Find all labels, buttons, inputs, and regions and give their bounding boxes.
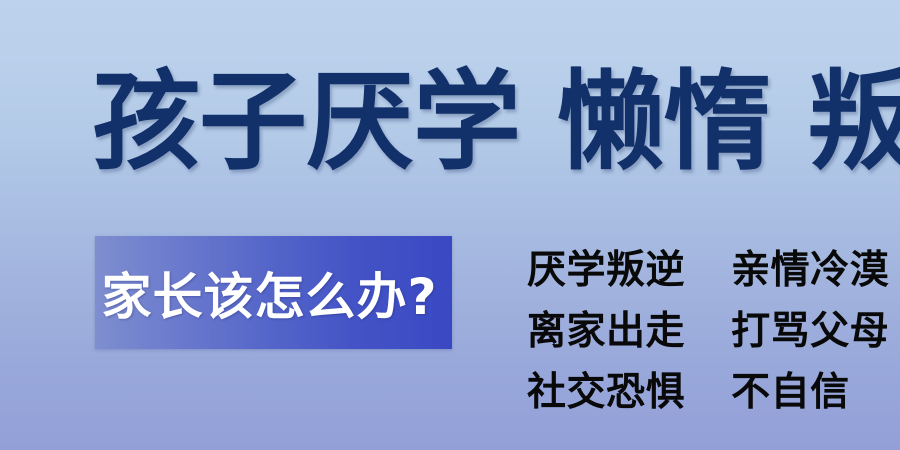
symptom-item-left: 厌学叛逆 (527, 248, 685, 293)
symptom-item-left: 离家出走 (527, 309, 685, 354)
page-title: 孩子厌学 懒惰 叛逆 (92, 58, 832, 188)
symptom-item-right: 不自信 (731, 370, 850, 415)
symptom-item-right: 亲情冷漠 (731, 248, 889, 293)
symptom-list-row: 社交恐惧 不自信 (527, 362, 867, 423)
call-to-action-label: 家长该怎么办? (101, 257, 437, 329)
symptom-list-row: 厌学叛逆 亲情冷漠 (527, 240, 867, 301)
call-to-action-banner[interactable]: 家长该怎么办? (95, 236, 452, 349)
poster-canvas: 孩子厌学 懒惰 叛逆 家长该怎么办? 厌学叛逆 亲情冷漠 离家出走 打骂父母 社… (0, 0, 900, 450)
symptom-list: 厌学叛逆 亲情冷漠 离家出走 打骂父母 社交恐惧 不自信 (527, 240, 867, 423)
symptom-item-left: 社交恐惧 (527, 370, 685, 415)
symptom-list-row: 离家出走 打骂父母 (527, 301, 867, 362)
symptom-item-right: 打骂父母 (731, 309, 889, 354)
